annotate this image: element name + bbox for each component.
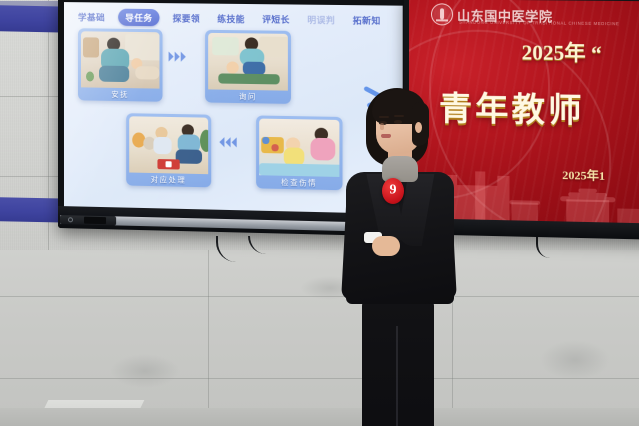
card-label: 询问 <box>208 89 288 103</box>
wall-smudge <box>540 340 610 380</box>
card-illustration <box>129 116 208 174</box>
wall-grout-line <box>0 378 639 379</box>
lower-wall-panel <box>0 250 639 426</box>
card-illustration <box>81 31 159 88</box>
chevron-left-icon <box>219 137 236 147</box>
presenter-mouth <box>381 134 391 138</box>
slide-tab-0[interactable]: 学基础 <box>74 9 109 25</box>
presenter-brow <box>379 116 389 118</box>
power-indicator-icon[interactable] <box>68 217 73 222</box>
screenshot-root: 学基础 导任务 探要领 练技能 评短长 明误判 拓新知 <box>0 0 639 426</box>
trouser-seam <box>396 326 398 426</box>
presenter-ear <box>415 122 422 133</box>
floor-strip <box>0 408 639 426</box>
slide-card-treatment[interactable]: 对应处理 <box>126 113 211 187</box>
slide-card-inquire[interactable]: 询问 <box>205 30 291 104</box>
slide-tab-4[interactable]: 评短长 <box>258 11 294 28</box>
slide-card-inspect-injury[interactable]: 检查伤情 <box>256 115 342 190</box>
slide-card-comfort[interactable]: 安抚 <box>78 28 163 102</box>
presenter-eye <box>394 120 402 124</box>
wall-grout-line <box>208 250 209 408</box>
presenter: 9 <box>336 86 462 426</box>
contestant-number-badge: 9 <box>382 178 404 204</box>
banner-year-line: 2025年 “ <box>522 36 602 67</box>
presenter-brow <box>394 115 404 117</box>
chevron-right-icon <box>169 52 186 62</box>
slide-tab-5[interactable]: 明误判 <box>303 11 339 28</box>
ir-sensor-icon <box>84 217 106 225</box>
slide-tab-2[interactable]: 探要领 <box>169 10 204 27</box>
slide-tab-1[interactable]: 导任务 <box>118 9 159 27</box>
presenter-nose <box>380 123 384 130</box>
card-label: 安抚 <box>81 87 159 101</box>
card-label: 检查伤情 <box>259 175 339 190</box>
presenter-turtleneck <box>382 156 418 182</box>
badge-number: 9 <box>390 184 397 198</box>
wall-smudge <box>110 354 180 388</box>
presenter-hands <box>372 236 400 256</box>
university-seal-icon <box>431 3 453 25</box>
card-illustration <box>259 119 339 177</box>
card-illustration <box>208 33 288 91</box>
slide-tab-bar: 学基础 导任务 探要领 练技能 评短长 明误判 拓新知 <box>74 8 396 29</box>
card-label: 对应处理 <box>129 173 208 188</box>
slide-tab-3[interactable]: 练技能 <box>213 10 249 27</box>
presenter-legs <box>362 298 434 426</box>
slide-tab-6[interactable]: 拓新知 <box>349 12 385 29</box>
